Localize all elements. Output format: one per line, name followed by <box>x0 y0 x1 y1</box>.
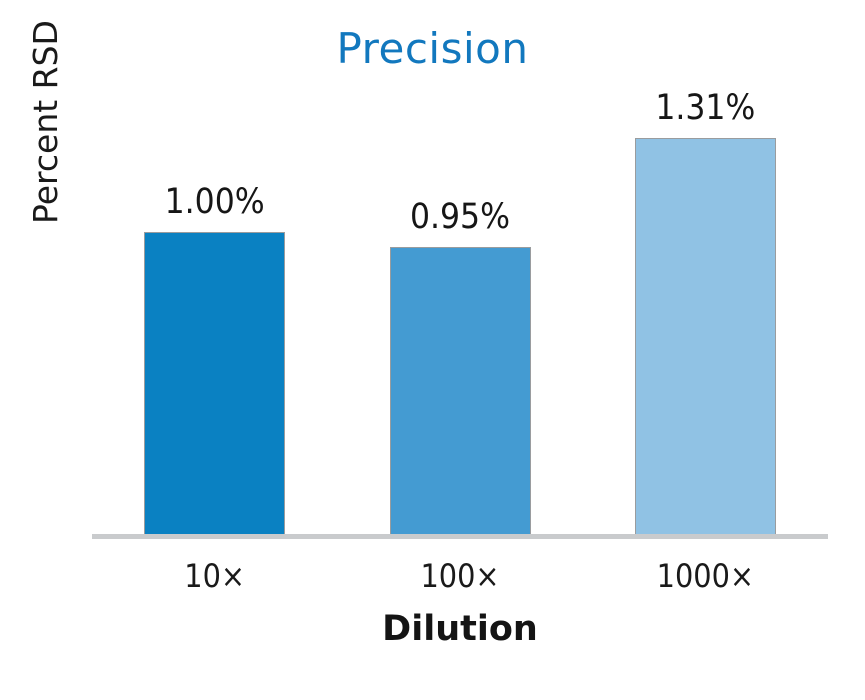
chart-title: Precision <box>0 28 865 70</box>
bar-group[interactable]: 1.31% <box>635 80 776 536</box>
precision-bar-chart: Precision Percent RSD 1.00%0.95%1.31% Di… <box>0 0 865 700</box>
bar-group[interactable]: 1.00% <box>144 80 285 536</box>
x-tick-label-1: 10× <box>144 560 285 592</box>
x-tick-label-2: 100× <box>390 560 531 592</box>
bar-2[interactable] <box>390 247 531 536</box>
bar-group[interactable]: 0.95% <box>390 80 531 536</box>
x-axis-title: Dilution <box>92 612 828 647</box>
bar-3[interactable] <box>635 138 776 536</box>
bar-value-label: 1.31% <box>655 91 755 126</box>
plot-area: 1.00%0.95%1.31% <box>92 80 828 536</box>
bar-1[interactable] <box>144 232 285 536</box>
bar-value-label: 0.95% <box>410 200 510 235</box>
y-axis-title: Percent RSD <box>24 0 68 224</box>
x-axis-baseline <box>92 534 828 539</box>
bar-value-label: 1.00% <box>165 185 265 220</box>
x-tick-label-3: 1000× <box>635 560 776 592</box>
